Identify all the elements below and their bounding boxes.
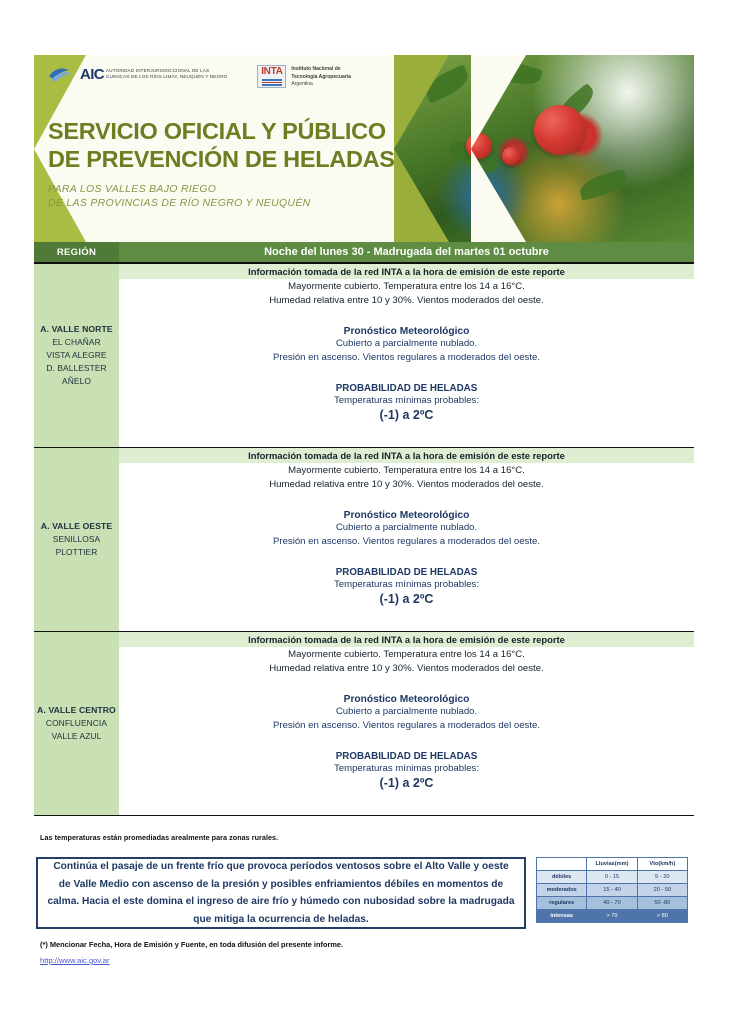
inta-logo: INTA Instituto Nacional de Tecnología Ag… [257, 65, 350, 88]
probability-title: PROBABILIDAD DE HELADAS [119, 365, 694, 394]
legend-corner-cell [537, 858, 587, 871]
page-subtitle-line2: DE LAS PROVINCIAS DE RÍO NEGRO Y NEUQUÉN [48, 197, 311, 211]
aic-wave-icon [48, 65, 78, 83]
forecast-line: Presión en ascenso. Vientos regulares a … [119, 351, 694, 365]
region-name: A. VALLE OESTE [34, 520, 119, 533]
legend-rain-value: 0 - 15 [587, 871, 637, 884]
observed-line: Mayormente cubierto. Temperatura entre l… [119, 648, 694, 662]
observed-line: Humedad relativa entre 10 y 30%. Vientos… [119, 662, 694, 676]
page-title-line2: DE PREVENCIÓN DE HELADAS [48, 145, 395, 173]
row-spacer [119, 607, 694, 631]
forecast-body: Cubierto a parcialmente nublado. Presión… [119, 705, 694, 733]
forecast-line: Presión en ascenso. Vientos regulares a … [119, 719, 694, 733]
region-locality: VALLE AZUL [34, 730, 119, 743]
info-band-label: Información tomada de la red INTA a la h… [119, 264, 694, 279]
probability-value: (-1) a 2ºC [119, 775, 694, 791]
table-row: A. VALLE OESTE SENILLOSA PLOTTIER Inform… [34, 448, 694, 632]
legend-label: regulares [537, 897, 587, 910]
legend-rain-value: > 70 [587, 910, 637, 923]
legend-wind-value: > 80 [637, 910, 687, 923]
forecast-detail-cell: Información tomada de la red INTA a la h… [119, 448, 694, 632]
observed-conditions: Mayormente cubierto. Temperatura entre l… [119, 647, 694, 676]
probability-value: (-1) a 2ºC [119, 407, 694, 423]
legend-label: moderados [537, 884, 587, 897]
average-note: Las temperaturas están promediadas areal… [40, 833, 278, 842]
header-region-label: REGIÓN [34, 242, 119, 263]
forecast-detail-cell: Información tomada de la red INTA a la h… [119, 632, 694, 816]
region-locality: CONFLUENCIA [34, 717, 119, 730]
info-band-label: Información tomada de la red INTA a la h… [119, 632, 694, 647]
legend-row: débiles 0 - 15 5 - 20 [537, 871, 688, 884]
page-title: SERVICIO OFICIAL Y PÚBLICO DE PREVENCIÓN… [48, 117, 395, 173]
observed-conditions: Mayormente cubierto. Temperatura entre l… [119, 463, 694, 492]
aic-website-link[interactable]: http://www.aic.gov.ar [40, 956, 110, 965]
legend-table: Lluvias(mm) Vto(km/h) débiles 0 - 15 5 -… [536, 857, 688, 923]
table-row: A. VALLE NORTE EL CHAÑAR VISTA ALEGRE D.… [34, 263, 694, 448]
forecast-body: Cubierto a parcialmente nublado. Presión… [119, 521, 694, 549]
probability-value: (-1) a 2ºC [119, 591, 694, 607]
legend-rain-value: 15 - 40 [587, 884, 637, 897]
probability-subtitle: Temperaturas mínimas probables: [119, 762, 694, 775]
legend-label: débiles [537, 871, 587, 884]
forecast-title: Pronóstico Meteorológico [119, 676, 694, 705]
inta-mark-icon: INTA [257, 65, 286, 88]
forecast-line: Cubierto a parcialmente nublado. [119, 705, 694, 719]
region-cell-valle-oeste: A. VALLE OESTE SENILLOSA PLOTTIER [34, 448, 119, 632]
row-spacer [119, 791, 694, 815]
region-name: A. VALLE NORTE [34, 323, 119, 336]
page-subtitle: PARA LOS VALLES BAJO RIEGO DE LAS PROVIN… [48, 183, 311, 210]
legend-header-rain: Lluvias(mm) [587, 858, 637, 871]
region-name: A. VALLE CENTRO [34, 704, 119, 717]
table-header-row: REGIÓN Noche del lunes 30 - Madrugada de… [34, 242, 694, 263]
logo-group: AIC AUTORIDAD INTERJURISDICCIONAL DE LAS… [48, 65, 351, 88]
inta-stripes-icon [262, 78, 282, 86]
legend-wind-value: 20 - 50 [637, 884, 687, 897]
legend-wind-value: 50 -80 [637, 897, 687, 910]
forecast-title: Pronóstico Meteorológico [119, 492, 694, 521]
probability-subtitle: Temperaturas mínimas probables: [119, 578, 694, 591]
forecast-detail-cell: Información tomada de la red INTA a la h… [119, 263, 694, 448]
forecast-table: REGIÓN Noche del lunes 30 - Madrugada de… [34, 242, 694, 816]
header-banner: AIC AUTORIDAD INTERJURISDICCIONAL DE LAS… [34, 55, 694, 242]
legend-header-row: Lluvias(mm) Vto(km/h) [537, 858, 688, 871]
region-cell-valle-norte: A. VALLE NORTE EL CHAÑAR VISTA ALEGRE D.… [34, 263, 119, 448]
observed-line: Mayormente cubierto. Temperatura entre l… [119, 464, 694, 478]
aic-logo: AIC AUTORIDAD INTERJURISDICCIONAL DE LAS… [48, 65, 227, 83]
region-cell-valle-centro: A. VALLE CENTRO CONFLUENCIA VALLE AZUL [34, 632, 119, 816]
legend-label: intensas [537, 910, 587, 923]
footer-note: (*) Mencionar Fecha, Hora de Emisión y F… [40, 940, 343, 949]
region-locality: PLOTTIER [34, 546, 119, 559]
legend-header-wind: Vto(km/h) [637, 858, 687, 871]
forecast-body: Cubierto a parcialmente nublado. Presión… [119, 337, 694, 365]
banner-text-area: AIC AUTORIDAD INTERJURISDICCIONAL DE LAS… [34, 55, 464, 242]
aic-acronym: AIC [80, 67, 104, 82]
inta-acronym: INTA [261, 67, 282, 77]
forecast-line: Cubierto a parcialmente nublado. [119, 337, 694, 351]
legend-rain-value: 40 - 70 [587, 897, 637, 910]
region-locality: EL CHAÑAR [34, 336, 119, 349]
forecast-title: Pronóstico Meteorológico [119, 308, 694, 337]
row-spacer [119, 423, 694, 447]
legend-row: regulares 40 - 70 50 -80 [537, 897, 688, 910]
region-locality: AÑELO [34, 375, 119, 388]
aic-logo-subtext: AUTORIDAD INTERJURISDICCIONAL DE LAS CUE… [106, 68, 227, 80]
probability-title: PROBABILIDAD DE HELADAS [119, 549, 694, 578]
header-period-label: Noche del lunes 30 - Madrugada del marte… [119, 242, 694, 263]
summary-box: Continúa el pasaje de un frente frío que… [36, 857, 526, 929]
observed-line: Mayormente cubierto. Temperatura entre l… [119, 280, 694, 294]
probability-subtitle: Temperaturas mínimas probables: [119, 394, 694, 407]
legend-row: intensas > 70 > 80 [537, 910, 688, 923]
probability-title: PROBABILIDAD DE HELADAS [119, 733, 694, 762]
inta-logo-subtext: Instituto Nacional de Tecnología Agropec… [291, 65, 350, 88]
report-page: AIC AUTORIDAD INTERJURISDICCIONAL DE LAS… [0, 0, 730, 1032]
table-row: A. VALLE CENTRO CONFLUENCIA VALLE AZUL I… [34, 632, 694, 816]
region-locality: VISTA ALEGRE [34, 349, 119, 362]
banner-chevron-shape-inner [471, 55, 526, 242]
legend-wind-value: 5 - 20 [637, 871, 687, 884]
forecast-line: Presión en ascenso. Vientos regulares a … [119, 535, 694, 549]
observed-conditions: Mayormente cubierto. Temperatura entre l… [119, 279, 694, 308]
info-band-label: Información tomada de la red INTA a la h… [119, 448, 694, 463]
legend-row: moderados 15 - 40 20 - 50 [537, 884, 688, 897]
page-subtitle-line1: PARA LOS VALLES BAJO RIEGO [48, 183, 311, 197]
observed-line: Humedad relativa entre 10 y 30%. Vientos… [119, 478, 694, 492]
observed-line: Humedad relativa entre 10 y 30%. Vientos… [119, 294, 694, 308]
summary-text: Continúa el pasaje de un frente frío que… [47, 858, 515, 928]
page-title-line1: SERVICIO OFICIAL Y PÚBLICO [48, 117, 395, 145]
region-locality: SENILLOSA [34, 533, 119, 546]
forecast-line: Cubierto a parcialmente nublado. [119, 521, 694, 535]
region-locality: D. BALLESTER [34, 362, 119, 375]
